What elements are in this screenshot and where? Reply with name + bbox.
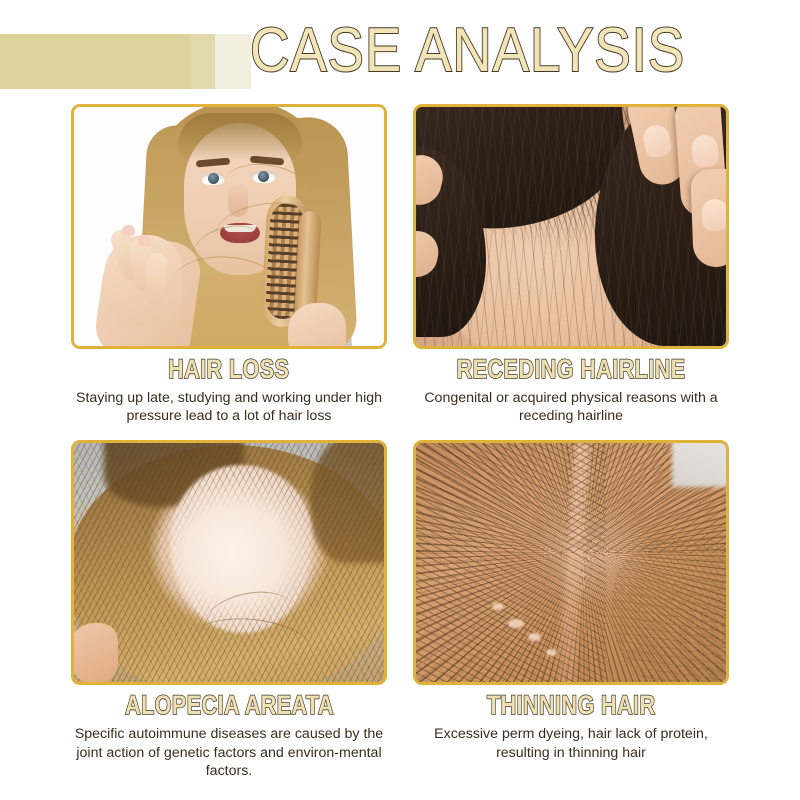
photo-frame-receding-hairline xyxy=(413,104,729,349)
case-row-1: HAIR LOSS Staying up late, studying and … xyxy=(0,104,800,426)
photo-alopecia-areata xyxy=(74,443,384,682)
fingernail-shape xyxy=(701,199,726,232)
case-title-thinning-hair: THINNING HAIR xyxy=(487,691,655,721)
banner-segment-mid xyxy=(190,34,215,89)
ear-shape xyxy=(74,623,118,682)
case-title-hair-loss: HAIR LOSS xyxy=(168,355,289,385)
iris-left-shape xyxy=(208,173,219,184)
case-card-thinning-hair[interactable]: THINNING HAIR Excessive perm dyeing, hai… xyxy=(410,440,732,781)
header-banner xyxy=(0,34,251,89)
photo-frame-thinning-hair xyxy=(413,440,729,685)
photo-thinning-hair xyxy=(416,443,726,682)
background-corner-shape xyxy=(672,443,726,487)
case-card-hair-loss[interactable]: HAIR LOSS Staying up late, studying and … xyxy=(68,104,390,426)
case-grid: HAIR LOSS Staying up late, studying and … xyxy=(0,104,800,781)
fingernail-shape xyxy=(691,134,719,168)
case-description-receding-hairline: Congenital or acquired physical reasons … xyxy=(406,389,736,426)
photo-hair-loss xyxy=(74,107,384,346)
case-title-receding-hairline: RECEDING HAIRLINE xyxy=(457,355,686,385)
case-description-thinning-hair: Excessive perm dyeing, hair lack of prot… xyxy=(406,725,736,762)
finger-shape xyxy=(144,252,168,305)
photo-frame-hair-loss xyxy=(71,104,387,349)
case-card-alopecia-areata[interactable]: ALOPECIA AREATA Specific autoimmune dise… xyxy=(68,440,390,781)
fringe-shape xyxy=(178,113,302,161)
banner-segment-dark xyxy=(0,34,190,89)
fingernail-shape xyxy=(122,225,135,236)
case-card-receding-hairline[interactable]: RECEDING HAIRLINE Congenital or acquired… xyxy=(410,104,732,426)
photo-frame-alopecia-areata xyxy=(71,440,387,685)
photo-receding-hairline xyxy=(416,107,726,346)
case-description-alopecia-areata: Specific autoimmune diseases are caused … xyxy=(64,725,394,781)
case-description-hair-loss: Staying up late, studying and working un… xyxy=(64,389,394,426)
banner-segment-light xyxy=(215,34,251,89)
page-header: CASE ANALYSIS xyxy=(0,0,800,104)
case-title-alopecia-areata: ALOPECIA AREATA xyxy=(125,691,334,721)
tangled-hair-texture xyxy=(612,539,726,682)
hand-holding-brush-shape xyxy=(288,303,346,346)
case-row-2: ALOPECIA AREATA Specific autoimmune dise… xyxy=(0,440,800,781)
fingernail-shape xyxy=(138,235,151,246)
page-title: CASE ANALYSIS xyxy=(250,20,685,82)
